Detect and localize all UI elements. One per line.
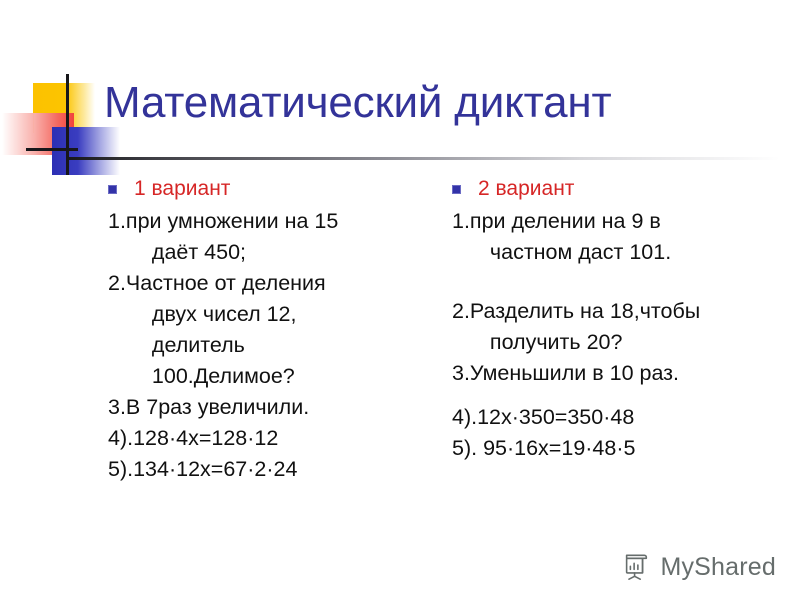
list-item: 4).128·4х=128·12: [108, 423, 438, 454]
watermark-label: MyShared: [660, 553, 776, 581]
variant-2-label: 2 вариант: [478, 177, 574, 201]
variant-1-heading: 1 вариант: [108, 175, 438, 203]
watermark: MyShared: [621, 552, 776, 582]
square-bullet-icon: [108, 185, 117, 194]
title-underline-rule: [68, 157, 780, 160]
column-variant-2: 2 вариант 1.при делении на 9 в частном д…: [452, 175, 792, 464]
list-item: 4).12х·350=350·48: [452, 402, 792, 433]
presentation-chart-icon: [621, 552, 651, 582]
variant-2-heading: 2 вариант: [452, 175, 792, 203]
slide-canvas: Математический диктант 1 вариант 1.при у…: [0, 0, 800, 600]
list-item: 3.В 7раз увеличили.: [108, 392, 438, 423]
slide-header: Математический диктант: [0, 0, 800, 175]
list-item: 2.Разделить на 18,чтобы получить 20?: [452, 296, 792, 358]
column-variant-1: 1 вариант 1.при умножении на 15 даёт 450…: [108, 175, 438, 485]
list-item: 3.Уменьшили в 10 раз.: [452, 358, 792, 389]
decorative-cross-horizontal-line: [26, 148, 78, 151]
content-columns: 1 вариант 1.при умножении на 15 даёт 450…: [0, 175, 800, 525]
square-bullet-icon: [452, 185, 461, 194]
list-item: 5). 95·16х=19·48·5: [452, 433, 792, 464]
variant-1-label: 1 вариант: [134, 177, 230, 201]
variant-1-item-list: 1.при умножении на 15 даёт 450; 2.Частно…: [108, 206, 438, 485]
list-item: 5).134·12х=67·2·24: [108, 454, 438, 485]
decorative-blue-square-icon: [52, 127, 120, 175]
page-title: Математический диктант: [104, 76, 794, 130]
list-item: 1.при умножении на 15 даёт 450;: [108, 206, 438, 268]
list-item: 1.при делении на 9 в частном даст 101.: [452, 206, 792, 268]
list-item: 2.Частное от деления двух чисел 12, дели…: [108, 268, 438, 392]
variant-2-item-list: 1.при делении на 9 в частном даст 101. 2…: [452, 206, 792, 464]
